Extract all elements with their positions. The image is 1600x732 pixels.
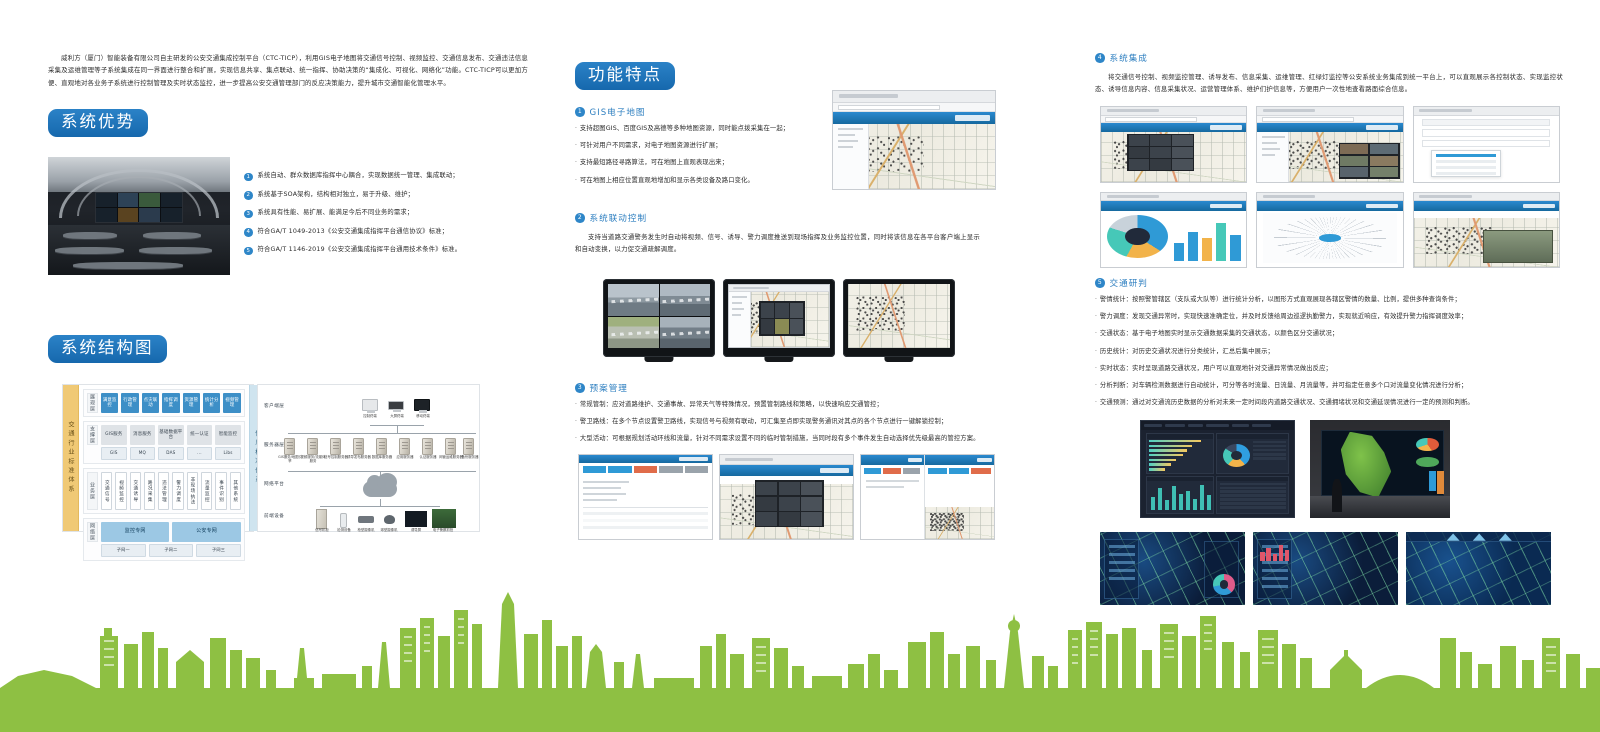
subcell: 子网二: [149, 544, 194, 557]
device-caption: 诱导屏: [403, 529, 429, 533]
section-header: 3 预案管理: [575, 382, 987, 394]
subcell: 子网三: [196, 544, 241, 557]
bullet-marker: ·: [575, 125, 577, 133]
window-titlebar: [1101, 193, 1246, 202]
bullet-item: · 可针对用户不同需求，对电子地图资源进行扩展；: [575, 142, 823, 150]
cell: 指挥调度: [162, 393, 179, 413]
panel-title: [1147, 477, 1214, 481]
app-navbar: [833, 112, 995, 125]
cell: 视频监控: [115, 472, 126, 510]
bullet-item: · 分析判断：对车辆检测数据进行自动统计，可分等各时流量、日流量、月流量等，并可…: [1095, 382, 1563, 390]
client-console-icon: [388, 401, 404, 410]
monitor-screen: [608, 284, 710, 348]
server-icon: [422, 438, 433, 455]
integration-screenshot: [1413, 192, 1560, 269]
band-label: 业务层: [87, 472, 98, 510]
form-fields: [583, 477, 636, 504]
camera-tile: [608, 317, 659, 349]
form-row: [1422, 119, 1550, 126]
monitor-stand: [644, 357, 673, 362]
list-item: 3 系统具有性能、易扩展、能满足今后不同业务的需求；: [244, 209, 528, 218]
server-icon: [307, 438, 318, 455]
monitor-screen: [728, 284, 830, 348]
cell: 警力调度: [172, 472, 183, 510]
tag: DAS: [158, 447, 184, 460]
bullet-text: 支持最短路径寻路算法，可在地图上直观表现出来；: [580, 159, 728, 167]
bullet-marker: ·: [575, 177, 577, 185]
tag: GIS: [101, 447, 127, 460]
list-number: 4: [244, 228, 253, 237]
horizontal-bar-chart: [1149, 440, 1211, 471]
city-skyline-footer: [0, 592, 1600, 732]
section-title: 系统集成: [1110, 52, 1148, 64]
map-layer-panel: [1257, 132, 1289, 181]
floor: [1310, 496, 1450, 518]
bullet-item: · 交通状态：基于电子地图实时显示交通数据采集的交通状态，以颜色区分交通状况；: [1095, 330, 1563, 338]
app-navbar: [1414, 201, 1559, 211]
cell: 违法管理: [158, 472, 169, 510]
app-navbar: [1257, 123, 1402, 133]
section-title: 系统联动控制: [590, 212, 648, 224]
bullet-text: 可在地图上相应位置直观地增加和显示各类设备及路口变化。: [580, 177, 754, 185]
server-icon: [445, 438, 456, 455]
vertical-bar-chart: [1151, 483, 1211, 510]
bullet-marker: ·: [575, 159, 577, 167]
list-text: 系统具有性能、易扩展、能满足今后不同业务的需求；: [258, 209, 414, 217]
section-title: 交通研判: [1110, 277, 1148, 289]
camera-tile: [660, 284, 711, 316]
panel-data-table: [1216, 476, 1289, 514]
bullet-text: 支持超图GIS、百度GIS及高德等多种地图资源，同时能点拨采集在一起；: [580, 125, 789, 133]
window-titlebar: [1257, 193, 1402, 202]
monitor-gis-overview: [843, 279, 955, 357]
toolbar: [583, 466, 708, 474]
pie-chart: [1107, 215, 1168, 258]
bullet-item: · 实时状态：实时呈现道路交通状况，用户可以直观地针对交通异常情况做出反应；: [1095, 365, 1563, 373]
band-label: 展现层: [87, 393, 98, 413]
cloud-network-icon: [363, 481, 397, 497]
cell: 基础数据平台: [158, 425, 184, 445]
browser-address-bar: [833, 103, 995, 112]
client-caption: 控制终端: [357, 415, 383, 419]
section-header: 2 系统联动控制: [575, 212, 980, 224]
bar-chart: [1174, 216, 1241, 261]
table-rows: [1220, 483, 1286, 511]
device-caption: 球型摄像机: [376, 529, 402, 533]
list-number: 1: [244, 173, 253, 182]
integration-screenshot: [1256, 106, 1403, 183]
list-item: 5 符合GA/T 1146-2019《公安交通集成指挥平台通用技术条件》标准。: [244, 246, 528, 255]
client-caption: 大屏终端: [384, 415, 410, 419]
chart-widget: [1437, 471, 1444, 495]
bullet-marker: ·: [1095, 399, 1097, 407]
integration-screenshot: [1256, 192, 1403, 269]
band-cells: 交通信号 视频监控 交通诱导 路况采集 违法管理 警力调度 非现场执法 流量监控…: [101, 472, 241, 510]
section-number: 3: [575, 383, 585, 393]
cell: 交通信号: [101, 472, 112, 510]
device-caption: 电子警察抓拍: [430, 529, 456, 533]
cell: 事件识别: [215, 472, 226, 510]
topo-row-label: 前端设备: [264, 513, 284, 519]
browser-address-bar: [1101, 116, 1246, 123]
cell: 行政管理: [121, 393, 138, 413]
arch-band-network: 网络层 监控专网 公安专网 子网一 子网二 子网三: [83, 518, 245, 561]
traffic-map-dark-screenshot: [1100, 532, 1245, 605]
cell: 满意监控: [101, 393, 118, 413]
topo-row-label: 客户端层: [264, 403, 284, 409]
bullet-text: 警卫路线：在多个节点设置警卫路线，实现信号与视频有联动，可汇集至点即实现警务通讯…: [580, 418, 947, 426]
monitor-stand: [884, 357, 913, 362]
arch-side-left: 交通行业标准体系: [63, 385, 79, 531]
section-system-integration: 4 系统集成 将交通信号控制、视频监控管理、诱导发布、信息采集、运维管理、红绿灯…: [1095, 52, 1563, 96]
cell: 统计分析: [203, 393, 220, 413]
map-canvas: [848, 284, 950, 348]
panel-horizontal-bars: [1146, 433, 1215, 473]
monitor-stand: [764, 357, 793, 362]
server-icon: [330, 438, 341, 455]
plan-list-screenshot: [578, 454, 713, 540]
heading-functional-features: 功能特点: [575, 62, 675, 90]
band-label: 支撑层: [87, 425, 98, 445]
panel-title: [1217, 477, 1288, 481]
section-plan-management: 3 预案管理 · 常规管制：应对道路维护、交通事故、异常天气等特殊情况，预置管制…: [575, 382, 987, 453]
cell: 视频管理: [223, 393, 240, 413]
camera-grid: [608, 284, 710, 348]
tag: Libs: [215, 447, 241, 460]
chart-widget: [1416, 438, 1438, 452]
heading-system-structure: 系统结构图: [48, 335, 167, 363]
camera-snapshot: [1483, 230, 1553, 263]
panel-title: [1147, 434, 1214, 439]
plan-config-screenshot: [860, 454, 995, 540]
cell: 统一认证: [187, 425, 213, 445]
list-number: 2: [244, 191, 253, 200]
form-row: [1422, 140, 1550, 147]
intersection-video-grid: [1127, 134, 1194, 171]
arch-band-presentation: 展现层 满意监控 行政管理 点灾联动 指挥调度 资源管理 统计分析 视频管理: [83, 389, 245, 417]
intersection-video-grid: [759, 301, 805, 336]
section-paragraph: 支持当道路交通警务发生时自动将视频、信号、诱导、警力调度推送到现场指挥及业务监控…: [575, 231, 980, 256]
integration-screenshot: [1100, 106, 1247, 183]
intro-paragraph: 威利方（厦门）智能装备有限公司自主研发的公安交通集成控制平台（CTC-TICP）…: [48, 52, 528, 89]
monitor-bezel: [603, 279, 715, 357]
window-titlebar: [729, 285, 829, 292]
window-titlebar: [1257, 107, 1402, 116]
right-pane: [925, 455, 994, 539]
window-titlebar: [1101, 107, 1246, 116]
bullet-marker: ·: [1095, 296, 1097, 304]
enforcement-snapshot-icon: [432, 509, 456, 528]
bullet-item: · 警力调度：发现交通异常时，实现快速准确定位，并及时反馈给周边巡逻执勤警力，实…: [1095, 313, 1563, 321]
camera-tile: [608, 284, 659, 316]
skyline-graphic: [0, 592, 1600, 732]
pane-titlebar: [861, 455, 924, 465]
section-number: 2: [575, 213, 585, 223]
subcell: 子网一: [101, 544, 146, 557]
list-text: 系统自动、群众数据库指挥中心耦合，实现数据统一管理、集成联动；: [258, 172, 459, 180]
window-titlebar: [1414, 193, 1559, 202]
architecture-diagram: 交通行业标准体系 展现层 满意监控 行政管理 点灾联动 指挥调度 资源管理 统计…: [62, 384, 254, 532]
bullet-text: 交通预测：通过对交通流历史数据的分析对未来一定时间段内道路交通状况、交通拥堵状况…: [1100, 399, 1474, 407]
bullet-item: · 支持最短路径寻路算法，可在地图上直观表现出来；: [575, 159, 823, 167]
topo-row-label: 网络平台: [264, 481, 284, 487]
plan-map-screenshot: [719, 454, 854, 540]
heading-system-advantages: 系统优势: [48, 109, 148, 137]
section-number: 5: [1095, 278, 1105, 288]
middle-column: 功能特点 1 GIS电子地图 · 支持超图GIS、百度GIS及高德等多种地图资源…: [575, 62, 995, 90]
list-item: 1 系统自动、群众数据库指挥中心耦合，实现数据统一管理、集成联动；: [244, 172, 528, 181]
left-column: 威利方（厦门）智能装备有限公司自主研发的公安交通集成控制平台（CTC-TICP）…: [48, 52, 528, 137]
dome-camera-icon: [384, 515, 395, 524]
cell: 消息服务: [130, 425, 156, 445]
panel-title: [1217, 434, 1288, 439]
traffic-map-dark-screenshot: [1253, 532, 1398, 605]
bus-line: [288, 433, 476, 434]
intersection-video-grid: [755, 480, 824, 527]
map-canvas: [925, 507, 994, 539]
bullet-marker: ·: [575, 401, 577, 409]
monitor-signal-console: [723, 279, 835, 357]
bullet-text: 交通状态：基于电子地图实时显示交通数据采集的交通状态，以颜色区分交通状况；: [1100, 330, 1339, 338]
legend-rows: [1253, 441, 1286, 471]
window-titlebar: [833, 91, 995, 103]
network-graph: [1263, 213, 1397, 262]
monitor-bezel: [723, 279, 835, 357]
server-icon: [376, 438, 387, 455]
pane-titlebar: [925, 455, 994, 465]
integration-screenshot: [1100, 192, 1247, 269]
section-header: 5 交通研判: [1095, 277, 1563, 289]
guidance-screen-icon: [405, 511, 427, 527]
bullet-item: · 警卫路线：在多个节点设置警卫路线，实现信号与视频有联动，可汇集至点即实现警务…: [575, 418, 987, 426]
bullet-marker: ·: [1095, 313, 1097, 321]
command-center-bigscreen-photo: [1310, 420, 1450, 518]
dialog-titlebar: [579, 455, 712, 463]
bullet-text: 警力调度：发现交通异常时，实现快速准确定位，并及时反馈给周边巡逻执勤警力，实现就…: [1100, 313, 1467, 321]
app-navbar: [1101, 123, 1246, 133]
section-number: 1: [575, 107, 585, 117]
tag: MQ: [130, 447, 156, 460]
server-icon: [399, 438, 410, 455]
bus-line: [288, 471, 476, 472]
dropdown-list[interactable]: [1431, 150, 1501, 177]
bullet-marker: ·: [1095, 348, 1097, 356]
section-title: GIS电子地图: [590, 106, 646, 118]
bullet-text: 警情统计：按照警管辖区（支队或大队等）进行统计分析，以图形方式直观展现各辖区警情…: [1100, 296, 1461, 304]
cell: 路况采集: [144, 472, 155, 510]
control-room-photo: [48, 157, 230, 275]
integration-screenshot-grid: [1100, 106, 1560, 268]
arch-band-support: 支撑层 GIS服务 消息服务 基础数据平台 统一认证 智能监控 GIS MQ D…: [83, 421, 245, 464]
form-row: [1422, 129, 1550, 136]
list-number: 3: [244, 210, 253, 219]
list-item: 2 系统基于SOA架构，结构相对独立，易于升级、维护；: [244, 191, 528, 200]
panel-donut: [1216, 433, 1289, 473]
window-titlebar: [720, 455, 853, 465]
bullet-item: · 大型活动：可根据规划活动环线和流量，针对不同需求设置不同的临时管制措施，当同…: [575, 435, 987, 443]
donut-chart: [1223, 444, 1250, 468]
bus-line: [320, 506, 440, 507]
list-text: 系统基于SOA架构，结构相对独立，易于升级、维护；: [258, 191, 415, 199]
result-table: [583, 507, 708, 536]
server-icon: [284, 438, 295, 455]
topo-row-label: 服务器层: [264, 442, 284, 448]
client-caption: 移动终端: [410, 415, 436, 419]
cell: 监控专网: [101, 522, 169, 542]
traffic-map-dark-screenshot: [1406, 532, 1551, 605]
analytics-dashboard-screenshot: [1140, 420, 1295, 518]
section-gis-map: 1 GIS电子地图 · 支持超图GIS、百度GIS及高德等多种地图资源，同时能点…: [575, 106, 823, 194]
bullet-marker: ·: [1095, 365, 1097, 373]
connector: [397, 425, 398, 433]
cell: 其他系统: [230, 472, 241, 510]
right-column: 4 系统集成 将交通信号控制、视频监控管理、诱导发布、信息采集、运维管理、红绿灯…: [1095, 52, 1565, 96]
bullet-text: 可针对用户不同需求，对电子地图资源进行扩展；: [580, 142, 722, 150]
bullet-camera-icon: [358, 516, 374, 523]
chart-widget: [1416, 457, 1438, 467]
arch-bands: 展现层 满意监控 行政管理 点灾联动 指挥调度 资源管理 统计分析 视频管理 支…: [79, 385, 249, 531]
client-workstation-icon: [362, 399, 378, 411]
bullet-text: 历史统计：对历史交通状况进行分类统计，汇总后集中展示；: [1100, 348, 1274, 356]
bullet-marker: ·: [575, 418, 577, 426]
list-number: 5: [244, 247, 253, 256]
list-item: 4 符合GA/T 1049-2013《公安交通集成指挥平台通信协议》标准；: [244, 228, 528, 237]
bullet-marker: ·: [575, 435, 577, 443]
cell: 资源管理: [183, 393, 200, 413]
monitor-screen: [848, 284, 950, 348]
server-icon: [463, 438, 474, 455]
cell: 点灾联动: [142, 393, 159, 413]
person-silhouette: [1332, 479, 1342, 512]
browser-address-bar: [1257, 116, 1402, 123]
signal-cabinet-icon: [316, 509, 327, 529]
bullet-marker: ·: [575, 142, 577, 150]
section-title: 预案管理: [590, 382, 628, 394]
section-paragraph: 将交通信号控制、视频监控管理、诱导发布、信息采集、运维管理、红绿灯监控等公安系统…: [1095, 71, 1563, 96]
app-navbar: [720, 465, 853, 476]
bullet-item: · 可在地图上相应位置直观地增加和显示各类设备及路口变化。: [575, 177, 823, 185]
cell: 公安专网: [172, 522, 240, 542]
section-linkage-control: 2 系统联动控制 支持当道路交通警务发生时自动将视频、信号、诱导、警力调度推送到…: [575, 212, 980, 256]
client-videowall-icon: [414, 399, 430, 411]
band-label: 网络层: [87, 522, 98, 542]
chart-widget: [1429, 471, 1436, 491]
left-pane: [861, 455, 925, 539]
desk-area: [48, 225, 230, 275]
tag: ...: [187, 447, 213, 460]
bullet-item: · 历史统计：对历史交通状况进行分类统计，汇总后集中展示；: [1095, 348, 1563, 356]
bullet-marker: ·: [1095, 382, 1097, 390]
cell: 非现场执法: [187, 472, 198, 510]
network-topology-diagram: 客户端层 服务器层 网络平台 前端设备 控制终端 大屏终端 移动终端: [257, 384, 480, 532]
band-cells: GIS服务 消息服务 基础数据平台 统一认证 智能监控: [101, 425, 241, 445]
monitor-bezel: [843, 279, 955, 357]
window-titlebar: [1414, 107, 1559, 116]
bullet-item: · 交通预测：通过对交通流历史数据的分析对未来一定时间段内道路交通状况、交通拥堵…: [1095, 399, 1563, 407]
advantages-list: 1 系统自动、群众数据库指挥中心耦合，实现数据统一管理、集成联动； 2 系统基于…: [244, 172, 528, 265]
video-wall: [95, 192, 182, 223]
bullet-text: 实时状态：实时呈现道路交通状况，用户可以直观地针对交通异常情况做出反应；: [1100, 365, 1332, 373]
bullet-text: 常规管制：应对道路维护、交通事故、异常天气等特殊情况，预置管制路线和策略，以快速…: [580, 401, 883, 409]
cell: GIS服务: [101, 425, 127, 445]
server-caption: 备份服务器: [457, 456, 483, 460]
app-navbar: [1101, 201, 1246, 211]
app-navbar: [1257, 201, 1402, 211]
section-traffic-analysis: 5 交通研判 · 警情统计：按照警管辖区（支队或大队等）进行统计分析，以图形方式…: [1095, 277, 1563, 416]
list-text: 符合GA/T 1049-2013《公安交通集成指挥平台通信协议》标准；: [258, 228, 449, 236]
map-layer-panel: [833, 124, 869, 189]
dashboard-toolbar: [1141, 421, 1294, 430]
mini-bar-chart: [1260, 542, 1289, 561]
bullet-marker: ·: [1095, 330, 1097, 338]
bullet-text: 大型活动：可根据规划活动环线和流量，针对不同需求设置不同的临时管制措施，当同时段…: [580, 435, 980, 443]
bullet-text: 分析判断：对车辆检测数据进行自动统计，可分等各时流量、日流量、月流量等，并可指定…: [1100, 382, 1467, 390]
section-header: 4 系统集成: [1095, 52, 1563, 64]
detector-icon: [340, 513, 347, 528]
bullet-item: · 警情统计：按照警管辖区（支队或大队等）进行统计分析，以图形方式直观展现各辖区…: [1095, 296, 1563, 304]
section-header: 1 GIS电子地图: [575, 106, 823, 118]
panel-vertical-bars: [1146, 476, 1215, 514]
monitor-cctv: [603, 279, 715, 357]
donut-chart: [1213, 574, 1235, 594]
bullet-item: · 支持超图GIS、百度GIS及高德等多种地图资源，同时能点拨采集在一起；: [575, 125, 823, 133]
gis-map-screenshot: [832, 90, 996, 190]
band-cells: 满意监控 行政管理 点灾联动 指挥调度 资源管理 统计分析 视频管理: [101, 393, 241, 413]
brochure-page: 威利方（厦门）智能装备有限公司自主研发的公安交通集成控制平台（CTC-TICP）…: [0, 0, 1600, 732]
bullet-item: · 常规管制：应对道路维护、交通事故、异常天气等特殊情况，预置管制路线和策略，以…: [575, 401, 987, 409]
hud-panel: [1104, 539, 1139, 599]
camera-tile: [660, 317, 711, 349]
section-number: 4: [1095, 53, 1105, 63]
list-text: 符合GA/T 1146-2019《公安交通集成指挥平台通用技术条件》标准。: [258, 246, 462, 254]
connector: [380, 499, 381, 506]
band-cells: 监控专网 公安专网: [101, 522, 241, 542]
cell: 流量监控: [201, 472, 212, 510]
integration-screenshot: [1413, 106, 1560, 183]
arch-band-business: 业务层 交通信号 视频监控 交通诱导 路况采集 违法管理 警力调度 非现场执法 …: [83, 468, 245, 514]
cell: 智能监控: [215, 425, 241, 445]
tree-panel: [729, 292, 751, 347]
cell: 交通诱导: [130, 472, 141, 510]
camera-preview-grid: [1339, 143, 1400, 179]
server-icon: [353, 438, 364, 455]
